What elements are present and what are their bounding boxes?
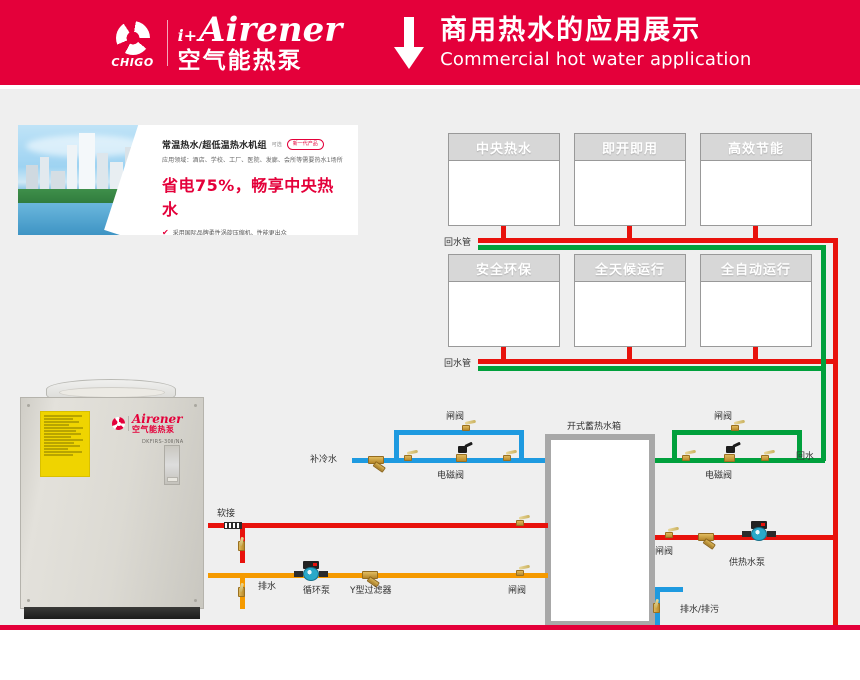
label-gate-valve-left-top: 闸阀 <box>446 409 464 422</box>
label-gate-valve-right-top: 闸阀 <box>714 409 732 422</box>
brand-chinese: 空气能热泵 <box>178 50 343 73</box>
pipe-red-drop <box>501 347 506 359</box>
gate-valve-icon <box>459 422 473 432</box>
gate-valve-icon <box>401 452 415 462</box>
unit-base <box>24 607 200 619</box>
label-gate-valve-bottom-right: 闸阀 <box>655 544 673 557</box>
promo-badge: 新一代产品 <box>287 139 324 150</box>
feature-box-label: 即开即用 <box>575 134 685 161</box>
feature-box-label: 全天候运行 <box>575 255 685 282</box>
brand-latin-name: Airener <box>199 13 342 47</box>
gate-valve-icon <box>513 567 527 577</box>
label-solenoid-valve-left: 电磁阀 <box>437 468 464 481</box>
gate-valve-icon <box>662 529 676 539</box>
label-solenoid-valve-right: 电磁阀 <box>705 468 732 481</box>
promo-heading-row: 常温热水/超低温热水机组 可选 新一代产品 <box>162 138 350 151</box>
gate-valve-icon <box>679 452 693 462</box>
pipe-green-riser-upper <box>821 245 826 366</box>
label-y-filter: Y型过滤器 <box>350 583 392 596</box>
y-filter-icon <box>698 529 720 545</box>
feature-box-fully-automatic[interactable]: 全自动运行 <box>700 254 812 347</box>
pipe-red-drop <box>753 347 758 359</box>
pipe-blue-bypass-right <box>519 430 524 463</box>
label-hot-water-supply-pump: 供热水泵 <box>729 555 765 568</box>
feature-box-high-efficiency[interactable]: 高效节能 <box>700 133 812 226</box>
bottom-whitespace <box>0 630 860 680</box>
feature-box-instant-use[interactable]: 即开即用 <box>574 133 686 226</box>
promo-bullet-text: 采用国际品牌柔性涡旋压缩机、性能更出众 <box>173 228 287 235</box>
gate-valve-icon <box>758 452 772 462</box>
pipe-green-riser-lower <box>821 366 826 461</box>
promo-subheading: 应用领域：酒店、学校、工厂、医院、发廊、会所等需要热水1场所 <box>162 155 350 164</box>
pipe-red-header-bottom <box>478 359 838 364</box>
promo-heading: 常温热水/超低温热水机组 <box>162 138 267 151</box>
pipe-red-drop <box>627 226 632 238</box>
feature-box-central-hot-water[interactable]: 中央热水 <box>448 133 560 226</box>
chigo-logo-icon: CHIGO <box>109 17 157 69</box>
label-drain-sewage: 排水/排污 <box>680 602 719 615</box>
promo-bullets: ✔ 采用国际品牌柔性涡旋压缩机、性能更出众 ✔ 专用智能除霜技术(专利号：CN1… <box>162 228 350 235</box>
pipe-red-drop <box>627 347 632 359</box>
pipe-green-header-bottom <box>478 366 826 371</box>
brand-text: i+ Airener 空气能热泵 <box>178 13 343 73</box>
brand-divider <box>167 20 168 66</box>
gate-valve-icon <box>500 452 514 462</box>
label-gate-valve-bottom-mid: 闸阀 <box>508 583 526 596</box>
feature-box-all-weather[interactable]: 全天候运行 <box>574 254 686 347</box>
unit-warning-label <box>40 411 90 477</box>
content-canvas: 常温热水/超低温热水机组 可选 新一代产品 应用领域：酒店、学校、工厂、医院、发… <box>0 89 860 625</box>
pipe-red-drop <box>753 226 758 238</box>
promo-headline: 省电75%，畅享中央热水 <box>162 172 350 220</box>
gate-valve-icon <box>728 422 742 432</box>
label-flex-connector: 软接 <box>217 506 235 519</box>
chigo-swirl-icon <box>116 21 150 55</box>
solenoid-valve-icon <box>452 446 472 464</box>
feature-box-label: 中央热水 <box>449 134 559 161</box>
pipe-green-header-top <box>478 245 826 250</box>
chigo-wordmark: CHIGO <box>111 57 153 69</box>
label-return-pipe-bottom: 回水管 <box>444 356 471 369</box>
promo-heading-note: 可选 <box>272 141 282 148</box>
label-tank: 开式蓄热水箱 <box>567 419 621 432</box>
arrow-down-icon <box>394 17 424 69</box>
heat-pump-unit[interactable]: Airener 空气能热泵 DKFIRS-30Ⅱ/NA <box>14 379 210 625</box>
label-return-water: 回水 <box>796 449 814 462</box>
feature-box-label: 全自动运行 <box>701 255 811 282</box>
header-title-text: 商用热水的应用展示 Commercial hot water applicati… <box>440 17 751 69</box>
pipe-red-riser-right <box>833 238 838 629</box>
brand-latin-prefix: i+ <box>178 28 197 44</box>
label-circulation-pump: 循环泵 <box>303 583 330 596</box>
gate-valve-icon <box>237 537 247 553</box>
y-filter-icon <box>362 567 384 583</box>
y-filter-icon <box>368 452 390 468</box>
page-header: CHIGO i+ Airener 空气能热泵 商用热水的应用展示 Commerc… <box>0 0 860 85</box>
feature-box-safe-eco[interactable]: 安全环保 <box>448 254 560 347</box>
gate-valve-icon <box>237 583 247 599</box>
label-return-pipe-top: 回水管 <box>444 235 471 248</box>
unit-brand-cn: 空气能热泵 <box>132 426 183 434</box>
pipe-blue-drain-horz <box>655 587 683 592</box>
promo-body: 常温热水/超低温热水机组 可选 新一代产品 应用领域：酒店、学校、工厂、医院、发… <box>154 125 358 235</box>
pipe-blue-bypass-left <box>394 430 399 463</box>
pipe-red-header-top <box>478 238 838 243</box>
flex-connector-icon <box>224 522 242 529</box>
feature-box-label: 安全环保 <box>449 255 559 282</box>
unit-brand-latin: Airener <box>132 413 183 425</box>
chigo-swirl-icon <box>112 417 125 430</box>
unit-control-panel[interactable] <box>164 445 180 485</box>
promo-bullet: ✔ 采用国际品牌柔性涡旋压缩机、性能更出众 <box>162 228 350 235</box>
header-title-block: 商用热水的应用展示 Commercial hot water applicati… <box>394 17 751 69</box>
circulation-pump-icon <box>294 561 328 581</box>
page-title-cn: 商用热水的应用展示 <box>440 17 751 44</box>
gate-valve-icon <box>513 517 527 527</box>
promo-card[interactable]: 常温热水/超低温热水机组 可选 新一代产品 应用领域：酒店、学校、工厂、医院、发… <box>18 125 358 235</box>
unit-brand-logo: Airener 空气能热泵 <box>112 413 183 434</box>
pipe-red-supply-left <box>208 523 548 528</box>
brand-logo: CHIGO i+ Airener 空气能热泵 <box>109 13 343 73</box>
label-drain: 排水 <box>258 579 276 592</box>
label-cold-water-makeup: 补冷水 <box>310 452 337 465</box>
check-icon: ✔ <box>162 229 169 236</box>
pipe-green-bypass-left <box>672 430 677 463</box>
page-title-en: Commercial hot water application <box>440 51 751 69</box>
header-inner: CHIGO i+ Airener 空气能热泵 商用热水的应用展示 Commerc… <box>0 0 860 85</box>
hot-water-supply-pump-icon <box>742 521 776 541</box>
pipe-red-drop <box>501 226 506 238</box>
solenoid-valve-icon <box>720 446 740 464</box>
gate-valve-icon <box>652 599 662 615</box>
brand-latin-wrap: i+ Airener <box>178 13 343 47</box>
feature-box-label: 高效节能 <box>701 134 811 161</box>
hot-water-tank[interactable] <box>545 434 655 627</box>
